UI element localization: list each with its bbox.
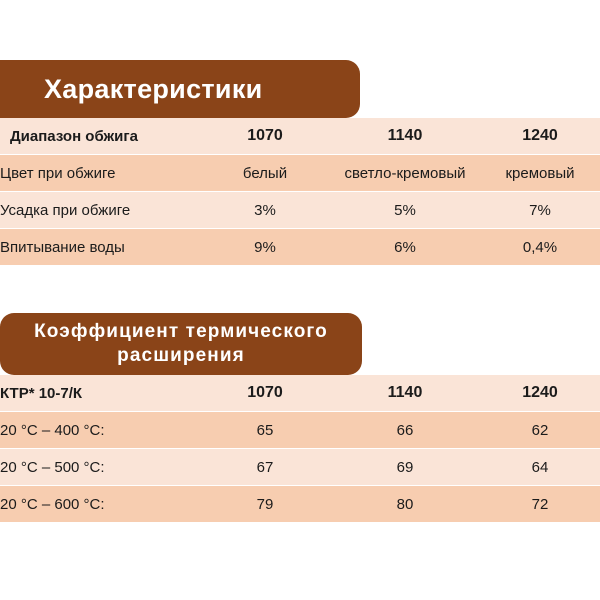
header-label: КТР* 10-7/К bbox=[0, 375, 200, 412]
info-tables-page: Характеристики Диапазон обжига 1070 1140… bbox=[0, 0, 600, 600]
row-value-3: 0,4% bbox=[480, 229, 600, 266]
row-value-2: 5% bbox=[330, 192, 480, 229]
row-value-3: 64 bbox=[480, 449, 600, 486]
thermal-expansion-title-line2: расширения bbox=[117, 345, 245, 366]
row-value-2: светло-кремовый bbox=[330, 155, 480, 192]
row-value-1: 79 bbox=[200, 486, 330, 523]
table-header-row: Диапазон обжига 1070 1140 1240 bbox=[0, 118, 600, 155]
table-row: Цвет при обжиге белый светло-кремовый кр… bbox=[0, 155, 600, 192]
header-value-3: 1240 bbox=[480, 375, 600, 412]
table-header-row: КТР* 10-7/К 1070 1140 1240 bbox=[0, 375, 600, 412]
row-value-1: 67 bbox=[200, 449, 330, 486]
row-value-3: кремовый bbox=[480, 155, 600, 192]
thermal-expansion-table: КТР* 10-7/К 1070 1140 1240 20 °C – 400 °… bbox=[0, 375, 600, 522]
header-value-1: 1070 bbox=[200, 375, 330, 412]
header-value-3: 1240 bbox=[480, 118, 600, 155]
header-value-1: 1070 bbox=[200, 118, 330, 155]
row-value-3: 62 bbox=[480, 412, 600, 449]
table-row: 20 °C – 600 °C: 79 80 72 bbox=[0, 486, 600, 523]
row-value-2: 6% bbox=[330, 229, 480, 266]
characteristics-title-badge: Характеристики bbox=[0, 60, 360, 118]
row-value-2: 80 bbox=[330, 486, 480, 523]
thermal-expansion-title: Коэффициент термического расширения bbox=[14, 320, 348, 368]
row-value-1: 9% bbox=[200, 229, 330, 266]
thermal-expansion-title-line1: Коэффициент термического bbox=[34, 321, 328, 342]
table-row: Усадка при обжиге 3% 5% 7% bbox=[0, 192, 600, 229]
row-value-2: 66 bbox=[330, 412, 480, 449]
row-label: Впитывание воды bbox=[0, 229, 200, 266]
header-value-2: 1140 bbox=[330, 375, 480, 412]
row-value-2: 69 bbox=[330, 449, 480, 486]
section-thermal-expansion: Коэффициент термического расширения КТР*… bbox=[0, 313, 600, 522]
row-label: 20 °C – 600 °C: bbox=[0, 486, 200, 523]
header-value-2: 1140 bbox=[330, 118, 480, 155]
row-value-3: 72 bbox=[480, 486, 600, 523]
header-label: Диапазон обжига bbox=[0, 118, 200, 155]
row-value-1: 65 bbox=[200, 412, 330, 449]
table-row: 20 °C – 500 °C: 67 69 64 bbox=[0, 449, 600, 486]
characteristics-table: Диапазон обжига 1070 1140 1240 Цвет при … bbox=[0, 118, 600, 265]
table-row: 20 °C – 400 °C: 65 66 62 bbox=[0, 412, 600, 449]
table-row: Впитывание воды 9% 6% 0,4% bbox=[0, 229, 600, 266]
row-value-1: белый bbox=[200, 155, 330, 192]
row-label: 20 °C – 500 °C: bbox=[0, 449, 200, 486]
section-characteristics: Характеристики Диапазон обжига 1070 1140… bbox=[0, 60, 600, 265]
thermal-expansion-title-badge: Коэффициент термического расширения bbox=[0, 313, 362, 375]
row-value-3: 7% bbox=[480, 192, 600, 229]
row-label: Усадка при обжиге bbox=[0, 192, 200, 229]
row-label: 20 °C – 400 °C: bbox=[0, 412, 200, 449]
row-label: Цвет при обжиге bbox=[0, 155, 200, 192]
characteristics-title: Характеристики bbox=[44, 75, 263, 103]
row-value-1: 3% bbox=[200, 192, 330, 229]
